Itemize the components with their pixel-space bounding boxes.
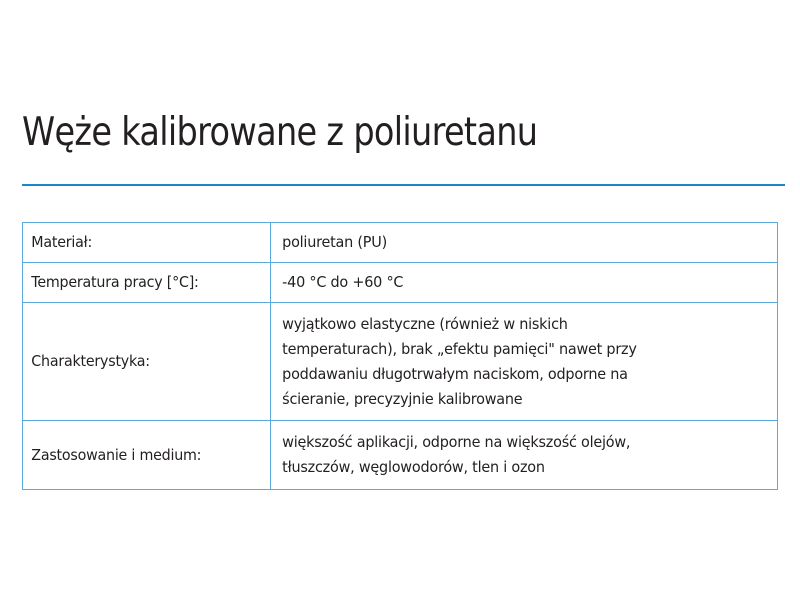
value-line: poddawaniu długotrwałym naciskom, odporn… [282,362,732,387]
spec-label-cell: Zastosowanie i medium: [23,421,271,490]
specification-table: Materiał: poliuretan (PU) Temperatura pr… [22,222,778,490]
spec-label-application: Zastosowanie i medium: [23,437,250,474]
spec-label-cell: Materiał: [23,223,271,263]
spec-value-cell: -40 °C do +60 °C [271,263,778,303]
table-row: Temperatura pracy [°C]: -40 °C do +60 °C [23,263,778,303]
table-row: Zastosowanie i medium: większość aplikac… [23,421,778,490]
value-line: ścieranie, precyzyjnie kalibrowane [282,387,732,412]
spec-label-characteristics: Charakterystyka: [23,343,250,380]
page-title: Węże kalibrowane z poliuretanu [22,110,676,156]
spec-label-cell: Charakterystyka: [23,303,271,421]
spec-value-cell: poliuretan (PU) [271,223,778,263]
value-line: -40 °C do +60 °C [282,270,732,295]
title-underline-rule [22,184,785,186]
spec-value-application: większość aplikacji, odporne na większoś… [271,425,742,485]
datasheet-page: Węże kalibrowane z poliuretanu Materiał:… [0,0,800,600]
spec-label-material: Materiał: [23,224,250,261]
spec-value-material: poliuretan (PU) [271,223,742,262]
spec-value-characteristics: wyjątkowo elastyczne (również w niskich … [271,307,742,417]
spec-value-temperature: -40 °C do +60 °C [271,263,742,302]
value-line: wyjątkowo elastyczne (również w niskich [282,312,732,337]
spec-label-temperature: Temperatura pracy [°C]: [23,264,250,301]
spec-value-cell: wyjątkowo elastyczne (również w niskich … [271,303,778,421]
table-row: Materiał: poliuretan (PU) [23,223,778,263]
spec-label-cell: Temperatura pracy [°C]: [23,263,271,303]
spec-value-cell: większość aplikacji, odporne na większoś… [271,421,778,490]
value-line: poliuretan (PU) [282,230,732,255]
table-row: Charakterystyka: wyjątkowo elastyczne (r… [23,303,778,421]
value-line: większość aplikacji, odporne na większoś… [282,430,732,455]
value-line: temperaturach), brak „efektu pamięci" na… [282,337,732,362]
value-line: tłuszczów, węglowodorów, tlen i ozon [282,455,732,480]
